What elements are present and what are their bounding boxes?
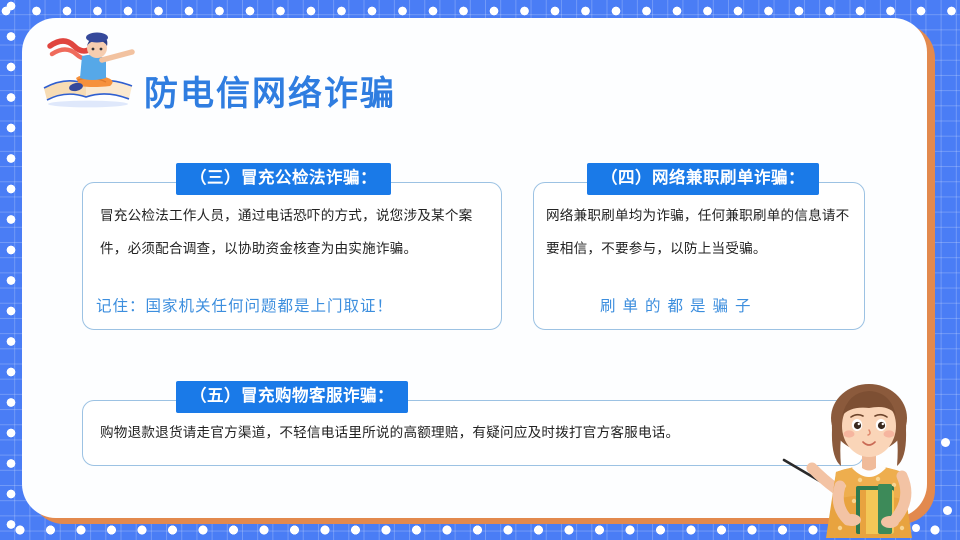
page-title-row: 防电信网络诈骗 xyxy=(36,26,466,112)
info-card-5-body: 购物退款退货请走官方渠道，不轻信电话里所说的高额理赔，有疑问应及时拨打官方客服电… xyxy=(100,412,860,454)
boy-on-book-icon xyxy=(36,26,140,108)
info-card-4-body: 网络兼职刷单均为诈骗，任何兼职刷单的信息请不要相信，不要参与，以防上当受骗。 xyxy=(546,200,854,266)
info-card-3-badge: （三）冒充公检法诈骗： xyxy=(176,163,391,195)
slide-canvas: 防电信网络诈骗 （三）冒充公检法诈骗： 冒充公检法工作人员，通过电话恐吓的方式，… xyxy=(0,0,960,540)
page-title: 防电信网络诈骗 xyxy=(144,66,396,115)
dot-column-left xyxy=(0,0,22,540)
info-card-5-badge: （五）冒充购物客服诈骗： xyxy=(176,381,408,413)
info-card-4-highlight: 刷单的都是骗子 xyxy=(600,294,758,316)
info-card-3-body: 冒充公检法工作人员，通过电话恐吓的方式，说您涉及某个案件，必须配合调查，以协助资… xyxy=(100,200,492,266)
teacher-with-pointer-icon xyxy=(778,368,960,540)
info-card-4-badge: （四）网络兼职刷单诈骗： xyxy=(587,163,819,195)
info-card-3-highlight: 记住：国家机关任何问题都是上门取证！ xyxy=(96,294,393,316)
